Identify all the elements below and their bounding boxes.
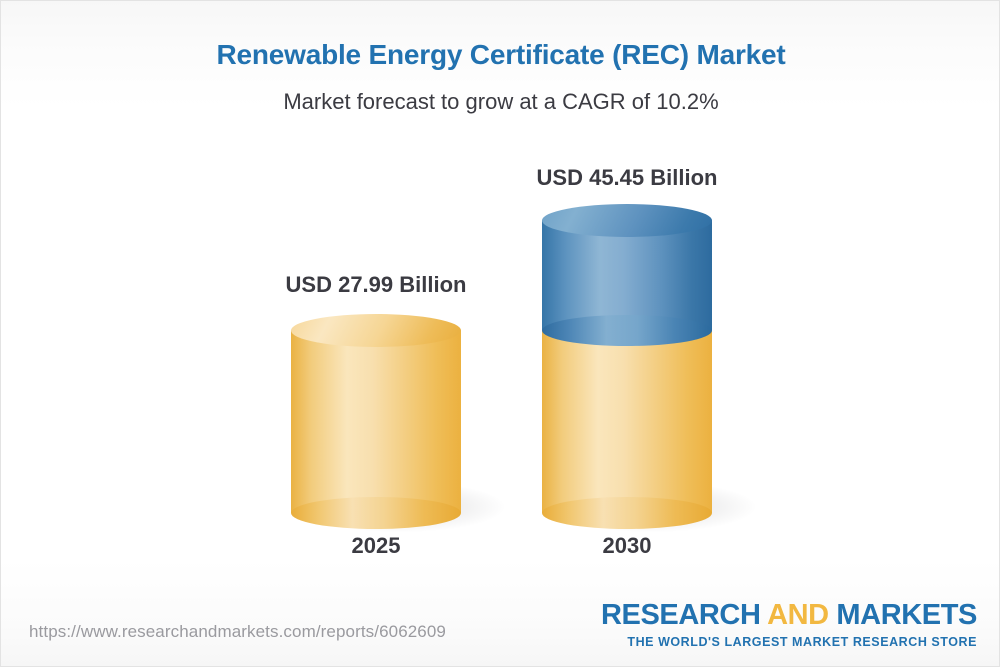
source-url[interactable]: https://www.researchandmarkets.com/repor… [29, 622, 446, 642]
bar-2030-category-label: 2030 [527, 533, 727, 559]
bar-2030-bottom-cap [542, 497, 712, 529]
brand-logo-wordmark: RESEARCH AND MARKETS [601, 601, 977, 630]
brand-logo-word-research: RESEARCH [601, 599, 761, 631]
bar-2025-category-label: 2025 [276, 533, 476, 559]
bar-2030[interactable] [542, 204, 712, 514]
brand-logo-word-and: AND [767, 599, 829, 631]
bar-2025-bottom-cap [291, 497, 461, 529]
bar-2025-value-label: USD 27.99 Billion [276, 272, 476, 298]
brand-logo-word-markets: MARKETS [836, 599, 977, 631]
brand-logo: RESEARCH AND MARKETS THE WORLD'S LARGEST… [601, 601, 977, 649]
chart-canvas: Renewable Energy Certificate (REC) Marke… [0, 0, 1000, 667]
bar-2025-body [291, 330, 461, 513]
bar-2030-value-label: USD 45.45 Billion [527, 165, 727, 191]
plot-area: USD 27.99 Billion 2025 USD 45.45 Billion… [1, 1, 1000, 668]
bar-2030-segment-base [542, 330, 712, 513]
bar-2025[interactable] [291, 314, 461, 514]
bar-2025-top-cap [291, 314, 461, 347]
bar-2030-segment-divider [542, 315, 712, 346]
bar-2030-top-cap [542, 204, 712, 237]
brand-logo-tagline: THE WORLD'S LARGEST MARKET RESEARCH STOR… [601, 635, 977, 649]
